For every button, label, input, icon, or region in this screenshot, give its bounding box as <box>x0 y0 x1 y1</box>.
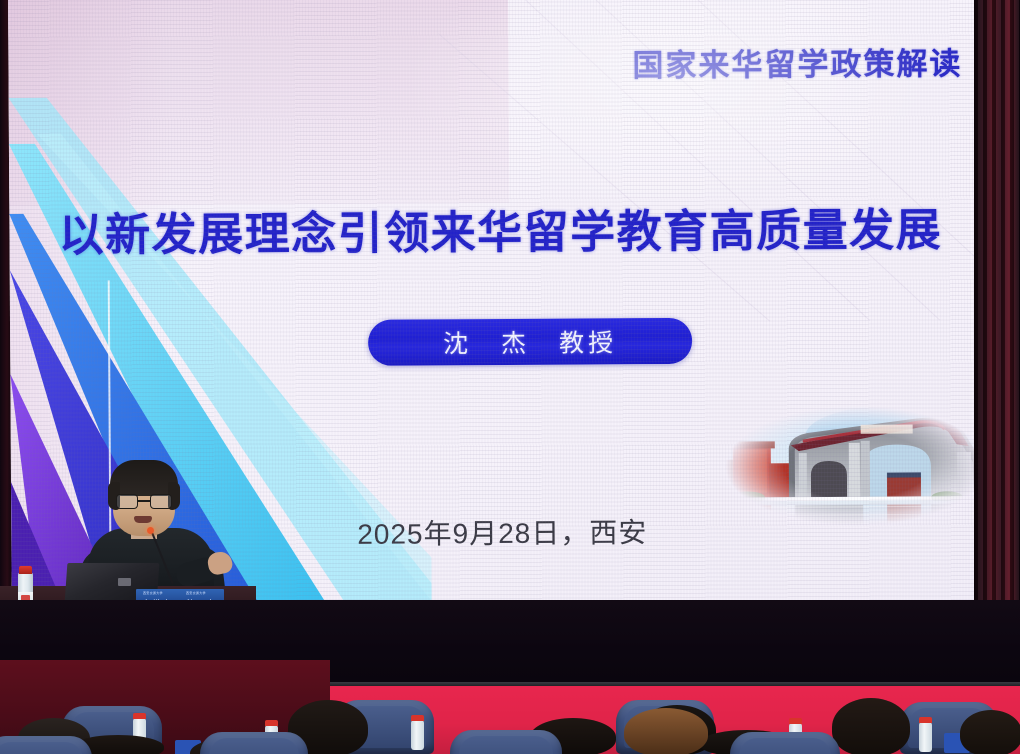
presenter-glasses <box>116 494 172 509</box>
laptop-logo <box>118 578 131 586</box>
audience-chair <box>0 736 92 754</box>
audience-chair <box>200 732 308 754</box>
nameplate-logo-left: 西安交通大学 <box>143 591 163 595</box>
speaker-name-badge: 沈 杰 教授 <box>368 318 692 366</box>
glasses-lens-left <box>116 494 138 509</box>
speaker-name-label: 沈 杰 教授 <box>443 323 617 360</box>
audience-head <box>832 698 910 754</box>
audience-water-bottle <box>919 722 932 752</box>
audience-head <box>624 708 708 754</box>
nameplate-logo-right: 西安交通大学 <box>186 591 206 595</box>
slide-header-text: 国家来华留学政策解读 <box>632 38 962 85</box>
microphone-tip-light <box>147 527 154 534</box>
audience-water-bottle <box>411 720 424 750</box>
audience-chair <box>730 732 840 754</box>
audience-chair <box>450 730 562 754</box>
slide-main-title: 以新发展理念引领来华留学教育高质量发展 <box>9 193 991 264</box>
lecture-hall-scene: 国家来华留学政策解读 以新发展理念引领来华留学教育高质量发展 沈 杰 教授 20… <box>0 0 1020 754</box>
presenter-mouth <box>134 516 152 523</box>
stage-curtain-right <box>974 0 1020 702</box>
audience-head <box>960 710 1020 754</box>
glasses-bridge <box>138 500 150 502</box>
glasses-lens-right <box>150 494 172 509</box>
water-bottle-cap <box>19 566 32 574</box>
